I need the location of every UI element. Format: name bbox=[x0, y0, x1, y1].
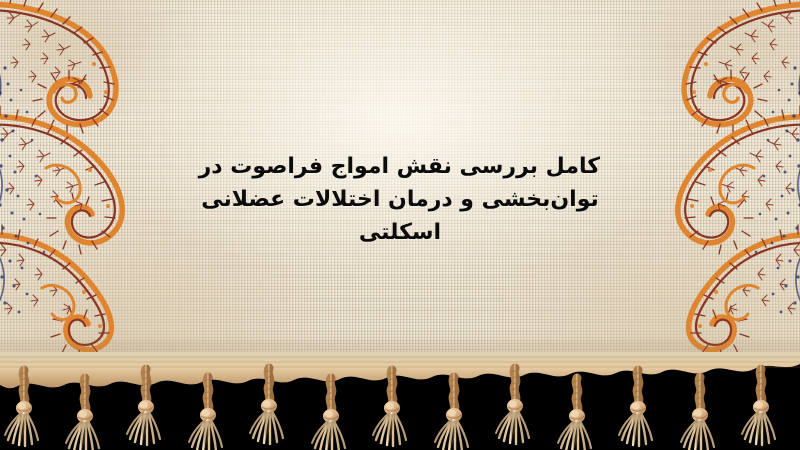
tassel-fringe bbox=[0, 352, 800, 450]
title-line-1: کامل بررسی نقش امواج فراصوت در bbox=[200, 150, 600, 183]
title-line-2: توان‌بخشی و درمان اختلالات عضلانی bbox=[200, 183, 600, 216]
fabric-panel: کامل بررسی نقش امواج فراصوت در توان‌بخشی… bbox=[0, 0, 800, 378]
slide-canvas: کامل بررسی نقش امواج فراصوت در توان‌بخشی… bbox=[0, 0, 800, 450]
slide-title: کامل بررسی نقش امواج فراصوت در توان‌بخشی… bbox=[200, 150, 600, 249]
title-line-3: اسکلتی bbox=[200, 216, 600, 249]
